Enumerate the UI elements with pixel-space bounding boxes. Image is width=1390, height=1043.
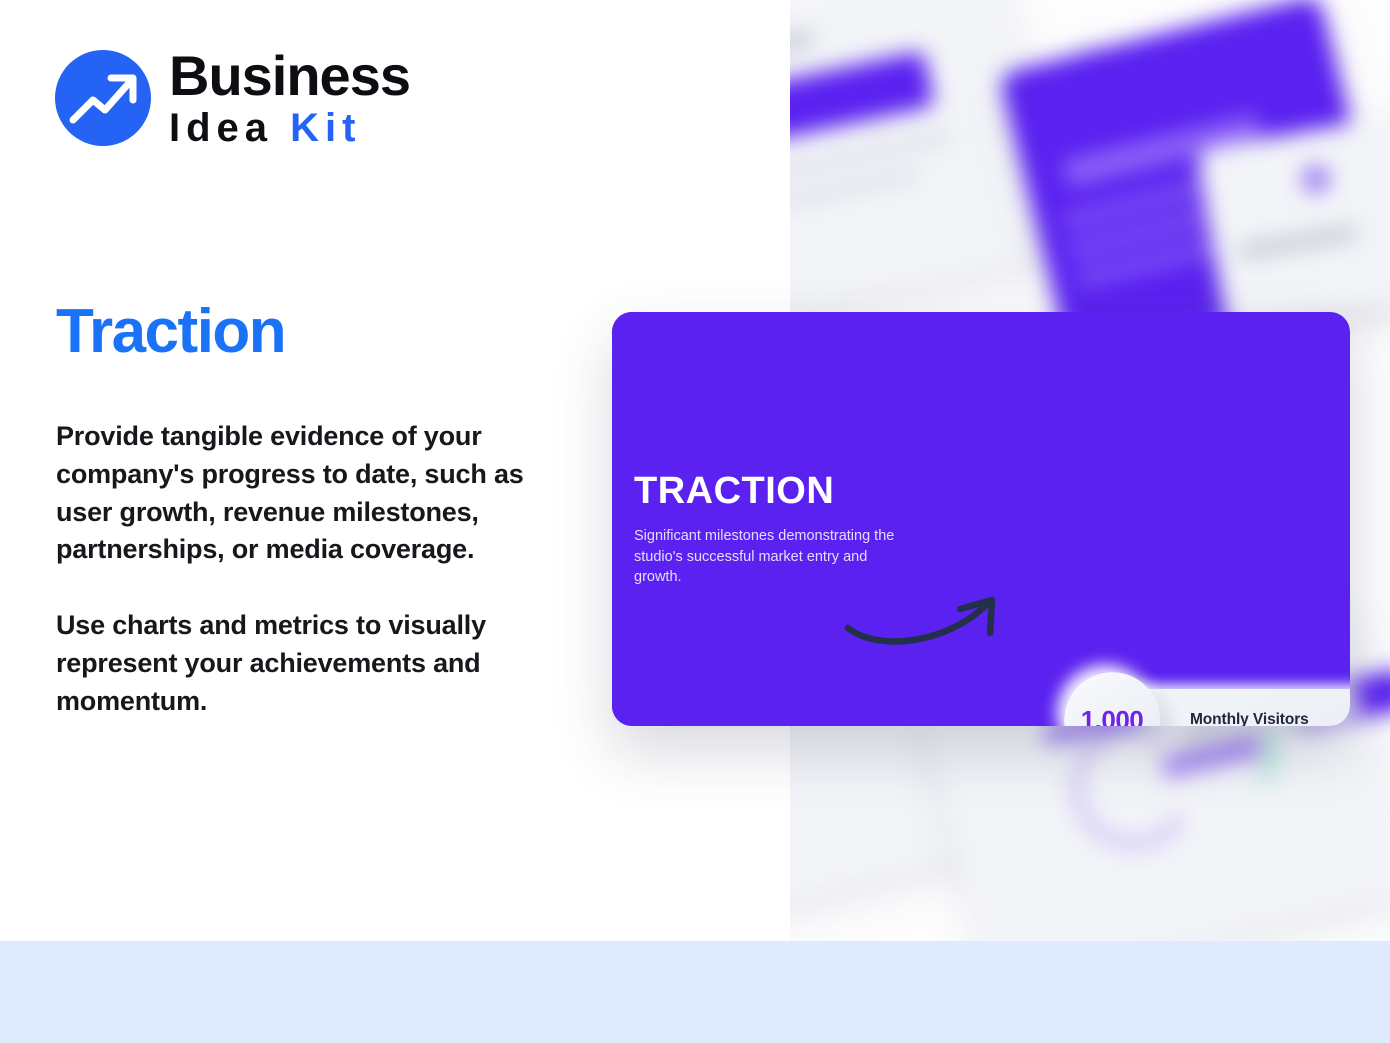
traction-slide-card: TRACTION Significant milestones demonstr… — [612, 312, 1350, 726]
brand-logo: Business Idea Kit — [55, 48, 410, 148]
deck-card-right — [1196, 112, 1390, 327]
description-block: Provide tangible evidence of your compan… — [56, 418, 566, 721]
brand-name-line1: Business — [169, 48, 410, 104]
deck-bar — [790, 29, 816, 74]
description-paragraph-1: Provide tangible evidence of your compan… — [56, 418, 566, 569]
metric-row-monthly-visitors[interactable]: 1,000 Monthly Visitors — [1064, 672, 1350, 726]
deck-bar — [1237, 224, 1358, 261]
page-title: Traction — [56, 296, 285, 367]
metrics-list: 1,000 Monthly Visitors 75 Workshops Held… — [612, 312, 1350, 726]
brand-name-idea: Idea — [169, 106, 290, 150]
metric-label-pill: Monthly Visitors — [1134, 689, 1350, 726]
metric-label: Monthly Visitors — [1190, 710, 1309, 726]
metric-value-circle: 1,000 — [1064, 672, 1160, 726]
brand-name-kit: Kit — [290, 106, 361, 150]
metric-value: 1,000 — [1081, 705, 1144, 727]
growth-chart-arrow-icon — [55, 50, 151, 146]
brand-name-line2: Idea Kit — [169, 108, 410, 148]
description-paragraph-2: Use charts and metrics to visually repre… — [56, 607, 566, 720]
brand-wordmark: Business Idea Kit — [169, 48, 410, 148]
deck-dot — [1301, 164, 1331, 194]
deck-bar — [790, 167, 920, 224]
curved-up-right-arrow-icon — [840, 590, 1010, 660]
bottom-accent-band — [0, 941, 1390, 1043]
slide-page: Business Idea Kit Traction Provide tangi… — [0, 0, 1390, 1043]
deck-card-back-left — [790, 0, 1057, 324]
